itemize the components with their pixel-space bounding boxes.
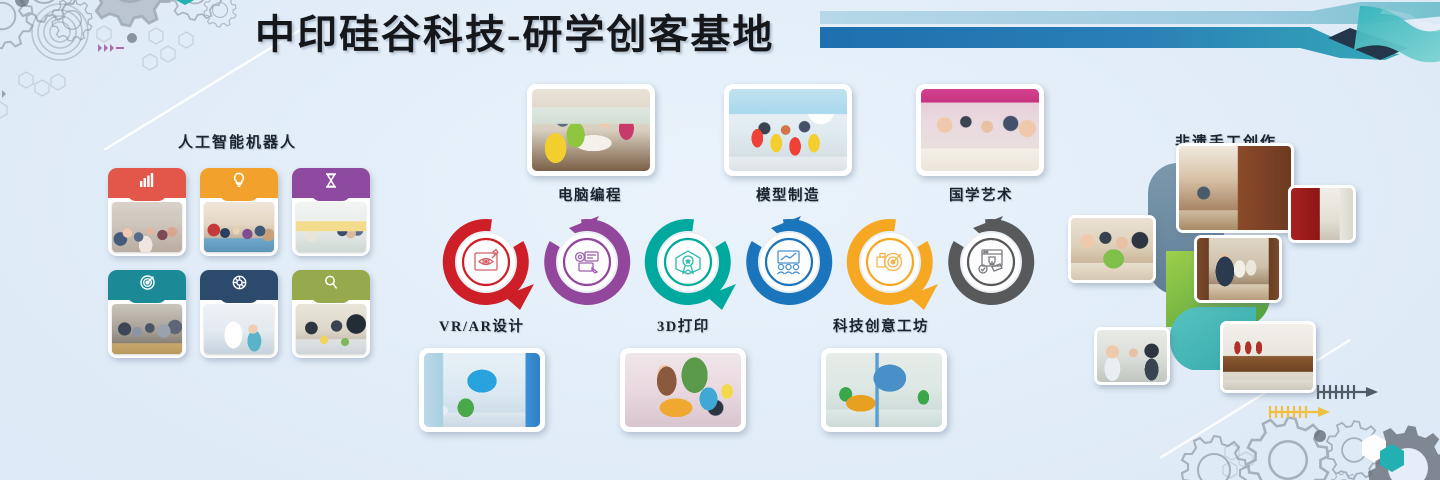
photo-card-3d-pen-workshop[interactable]: [620, 348, 746, 432]
poster-canvas: 中印硅谷科技-研学创客基地 人工智能机器人 非遗手工创作: [0, 0, 1440, 480]
card-photo: [112, 304, 182, 354]
grid-card-lightbulb[interactable]: [200, 168, 278, 256]
card-header: [108, 168, 186, 198]
card-header: [108, 270, 186, 300]
ring-achievement[interactable]: [939, 212, 1043, 312]
bar-chart-icon: [108, 168, 186, 192]
grid-card-hourglass[interactable]: [292, 168, 370, 256]
process-ring-row: [434, 212, 1044, 312]
ring-presentation[interactable]: [737, 212, 841, 312]
target-icon: [108, 270, 186, 294]
photo-card-computer-programming[interactable]: [527, 84, 655, 176]
card-header: [292, 270, 370, 300]
collage-photo-2[interactable]: [1176, 143, 1294, 233]
ai-robot-card-grid: [108, 168, 370, 358]
grid-card-gear[interactable]: [200, 270, 278, 358]
ring-tech-creative-workshop[interactable]: [838, 212, 942, 312]
card-photo: [204, 304, 274, 354]
collage-photo-1[interactable]: [1068, 215, 1156, 283]
card-header: [200, 168, 278, 198]
collage-photo-3[interactable]: [1288, 185, 1356, 243]
card-header: [292, 168, 370, 198]
card-photo: [296, 304, 366, 354]
ring-programming[interactable]: [535, 212, 639, 312]
photo-card-traditional-arts[interactable]: [916, 84, 1044, 176]
grid-card-magnifier[interactable]: [292, 270, 370, 358]
collage-photo-5[interactable]: [1094, 327, 1170, 385]
label-tech-creative-workshop: 科技创意工坊: [833, 315, 929, 336]
hourglass-icon: [292, 168, 370, 192]
lightbulb-icon: [200, 168, 278, 192]
label-vr-ar-design: VR/AR设计: [439, 315, 524, 336]
section-heading-left: 人工智能机器人: [178, 131, 297, 152]
photo-card-vr-lab[interactable]: [419, 348, 545, 432]
header-ribbon: [820, 2, 1440, 78]
label-3d-printing: 3D打印: [657, 315, 710, 336]
label-traditional-arts: 国学艺术: [949, 184, 1013, 205]
page-title: 中印硅谷科技-研学创客基地: [255, 6, 815, 64]
collage-photo-6[interactable]: [1220, 321, 1316, 393]
gear-icon: [200, 270, 278, 294]
photo-card-model-making[interactable]: [724, 84, 852, 176]
card-header: [200, 270, 278, 300]
label-model-making: 模型制造: [756, 184, 820, 205]
label-computer-programming: 电脑编程: [558, 184, 622, 205]
grid-card-target[interactable]: [108, 270, 186, 358]
card-photo: [296, 202, 366, 252]
gear-decoration-top-left: [0, 0, 280, 144]
ring-3d-printing[interactable]: [636, 212, 740, 312]
ring-vr-ar-design[interactable]: [434, 212, 538, 312]
magnifier-icon: [292, 270, 370, 294]
collage-photo-4[interactable]: [1194, 235, 1282, 303]
heritage-craft-collage: [1108, 155, 1358, 370]
photo-card-engineering-models[interactable]: [821, 348, 947, 432]
grid-card-bar-chart[interactable]: [108, 168, 186, 256]
card-photo: [204, 202, 274, 252]
card-photo: [112, 202, 182, 252]
